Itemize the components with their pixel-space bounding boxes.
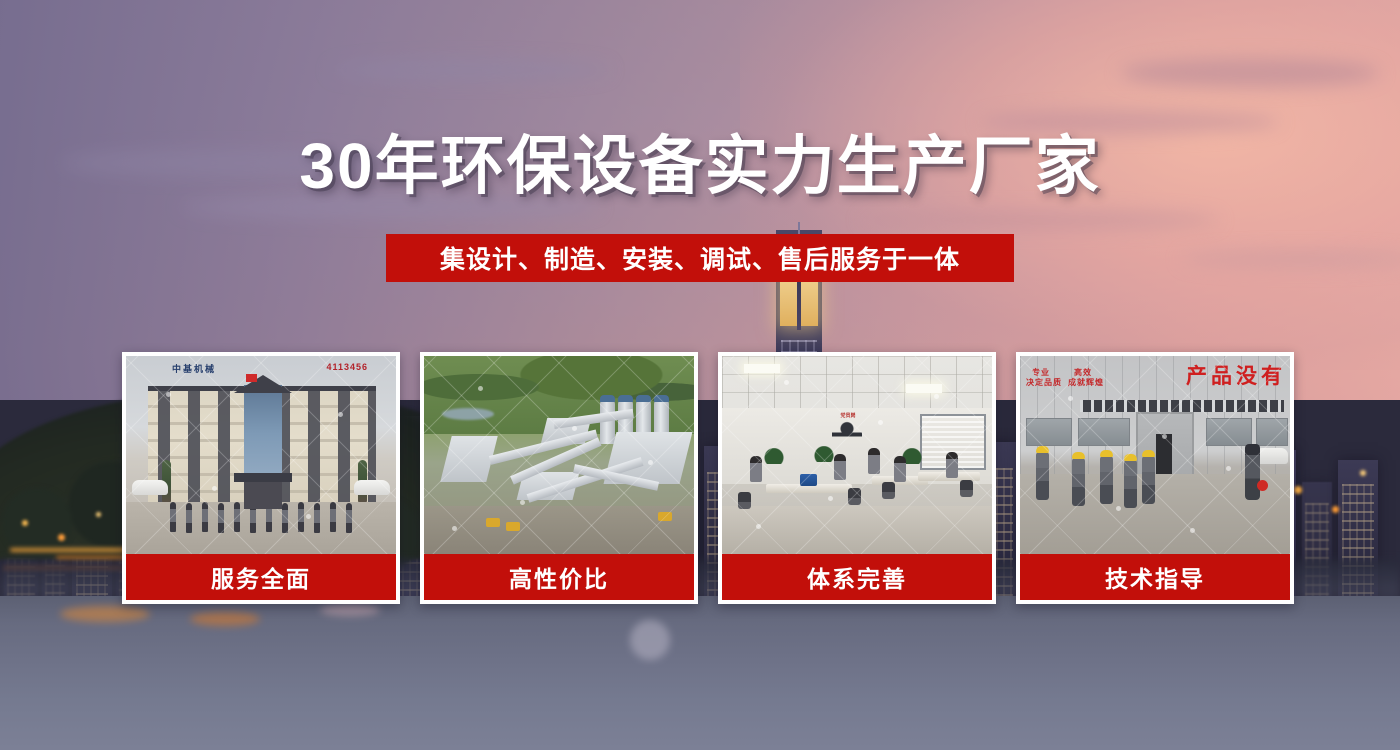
wall-emblem-text: 党员岗	[830, 412, 866, 419]
city-light	[58, 534, 65, 541]
water-reflection	[60, 606, 150, 622]
card-caption: 技术指导	[1020, 554, 1290, 600]
feature-card-list: 中基机械 4113456	[122, 352, 1278, 604]
water-reflection	[630, 620, 670, 660]
card-photo-plant-aerial	[424, 356, 694, 554]
card-caption: 高性价比	[424, 554, 694, 600]
card-photo-headquarters: 中基机械 4113456	[126, 356, 396, 554]
water-reflection	[320, 604, 380, 616]
card-photo-office-interior: 党员岗	[722, 356, 992, 554]
feature-card[interactable]: 党员岗	[718, 352, 996, 604]
city-light	[1360, 470, 1366, 476]
feature-card[interactable]: 中基机械 4113456	[122, 352, 400, 604]
building-phone-text: 4113456	[326, 362, 368, 372]
water-reflection	[190, 612, 260, 626]
card-caption: 体系完善	[722, 554, 992, 600]
city-light	[22, 520, 28, 526]
card-photo-factory-workers: 产品没有 专业决定品质 高效成就辉煌	[1020, 356, 1290, 554]
page-title: 30年环保设备实力生产厂家	[0, 132, 1400, 201]
cloud	[330, 60, 610, 80]
factory-wall-text: 产品没有	[1186, 360, 1286, 390]
cloud	[1120, 58, 1380, 88]
city-light	[1332, 506, 1339, 513]
feature-card[interactable]: 高性价比	[420, 352, 698, 604]
promo-banner: 30年环保设备实力生产厂家 集设计、制造、安装、调试、售后服务于一体 中基机械 …	[0, 0, 1400, 750]
feature-card[interactable]: 产品没有 专业决定品质 高效成就辉煌	[1016, 352, 1294, 604]
subtitle-text: 集设计、制造、安装、调试、售后服务于一体	[440, 240, 960, 276]
city-light	[1294, 486, 1302, 494]
city-light	[96, 512, 101, 517]
subtitle-banner: 集设计、制造、安装、调试、售后服务于一体	[386, 234, 1014, 282]
card-caption: 服务全面	[126, 554, 396, 600]
building-sign-text: 中基机械	[172, 362, 216, 375]
